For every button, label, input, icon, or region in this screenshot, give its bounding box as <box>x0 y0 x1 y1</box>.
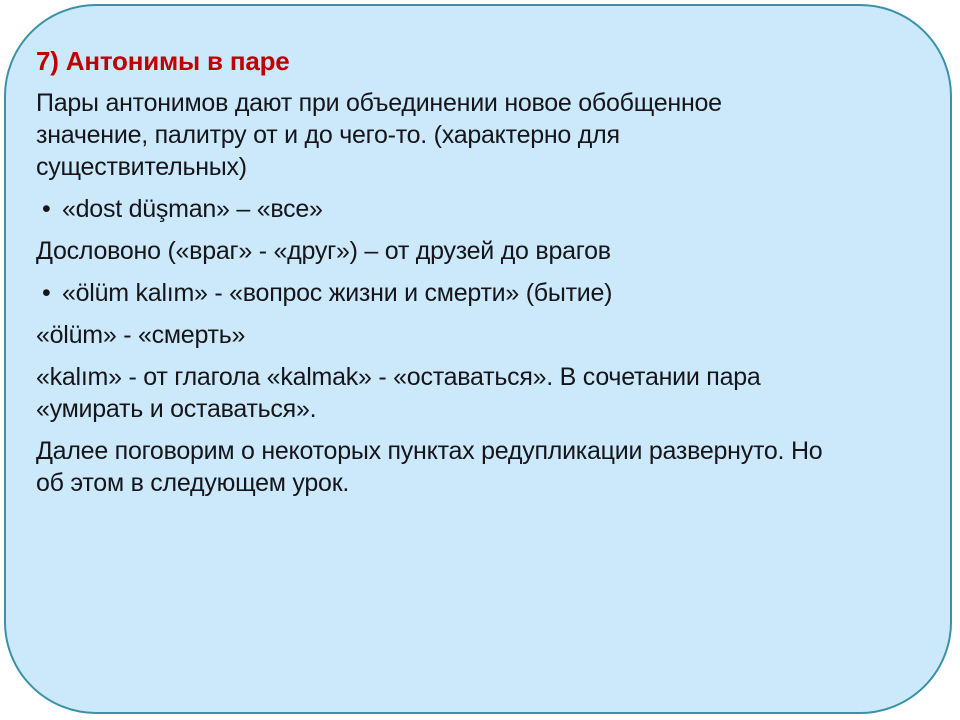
page-title: 7) Антонимы в паре <box>36 46 826 77</box>
paragraph-doslovono: Дословоно («враг» - «друг») – от друзей … <box>36 235 826 267</box>
list-item-label: «ölüm kalım» - «вопрос жизни и смерти» (… <box>62 279 612 307</box>
paragraph-kalim-gloss: «kalım» - от глагола «kalmak» - «остават… <box>36 361 826 425</box>
list-item-dost-dusman: • «dost düşman» – «все» <box>36 193 826 225</box>
slide-panel: 7) Антонимы в паре Пары антонимов дают п… <box>4 4 952 714</box>
paragraph-olum-gloss: «ölüm» - «смерть» <box>36 319 826 351</box>
bullet-dot-icon: • <box>42 193 51 225</box>
bullet-dot-icon: • <box>42 277 51 309</box>
list-item-label: «dost düşman» – «все» <box>62 195 323 223</box>
list-item-olum-kalim: • «ölüm kalım» - «вопрос жизни и смерти»… <box>36 277 826 309</box>
slide-content: 7) Антонимы в паре Пары антонимов дают п… <box>36 46 826 509</box>
paragraph-intro: Пары антонимов дают при объединении ново… <box>36 87 826 183</box>
paragraph-closing: Далее поговорим о некоторых пунктах реду… <box>36 435 826 499</box>
